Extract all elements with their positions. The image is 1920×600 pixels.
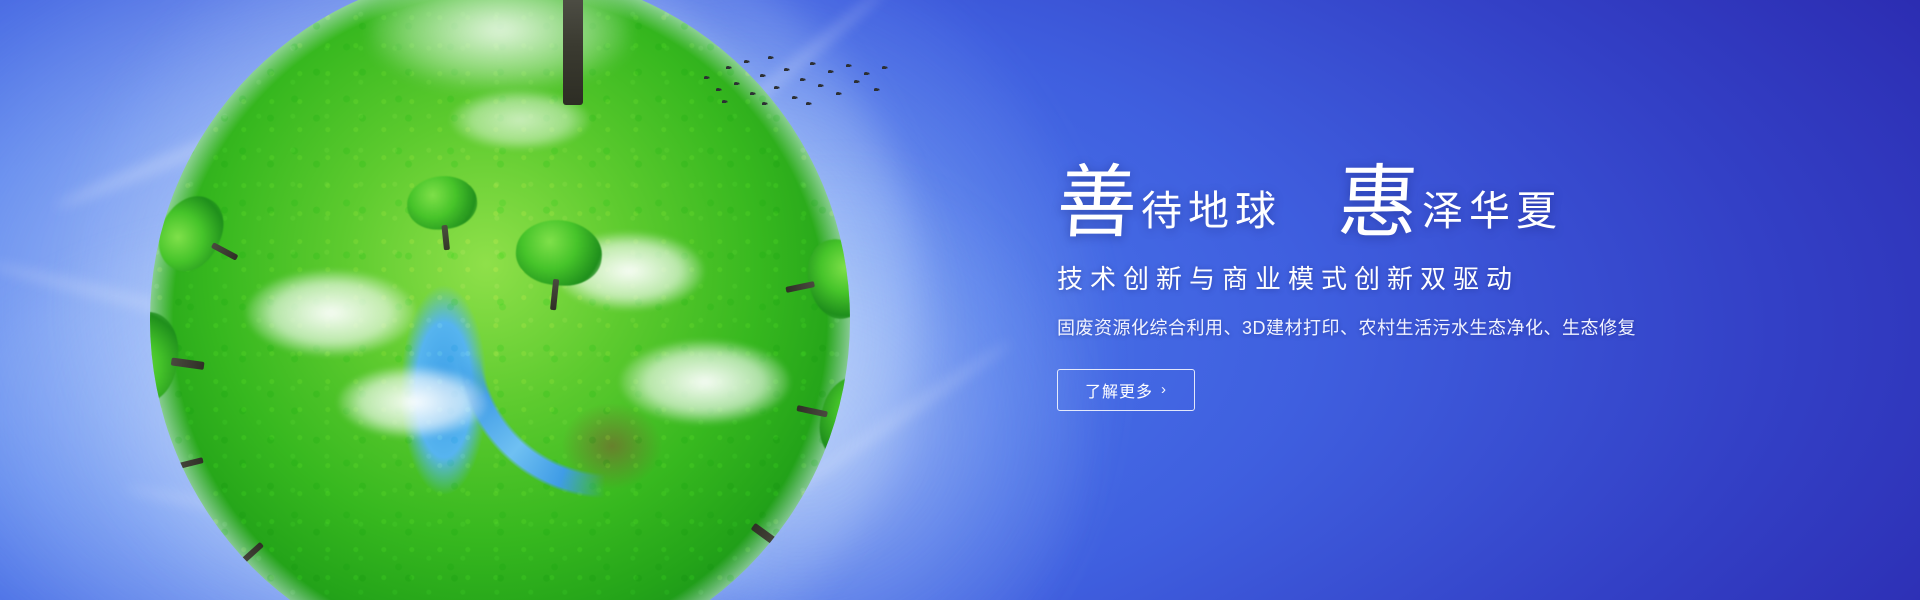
surface-cloud bbox=[246, 270, 416, 356]
headline-big-char-2: 惠 bbox=[1336, 164, 1420, 242]
bird-flock-icon bbox=[700, 48, 890, 110]
rim-tree bbox=[404, 173, 481, 254]
headline-group-1: 善 待地球 bbox=[1057, 164, 1282, 242]
rim-tree bbox=[510, 216, 605, 314]
headline-small-text-2: 泽华夏 bbox=[1422, 191, 1563, 242]
hero-tree bbox=[420, 0, 720, 80]
banner-copy: 善 待地球 惠 泽华夏 技术创新与商业模式创新双驱动 固废资源化综合利用、3D建… bbox=[1057, 146, 1817, 411]
headline-small-text-1: 待地球 bbox=[1141, 191, 1282, 242]
surface-cloud bbox=[620, 340, 790, 424]
chevron-right-icon: › bbox=[1161, 382, 1167, 397]
headline: 善 待地球 惠 泽华夏 bbox=[1057, 146, 1817, 242]
hero-banner: 善 待地球 惠 泽华夏 技术创新与商业模式创新双驱动 固废资源化综合利用、3D建… bbox=[0, 0, 1920, 600]
banner-subtitle: 技术创新与商业模式创新双驱动 bbox=[1057, 264, 1817, 295]
headline-group-2: 惠 泽华夏 bbox=[1338, 164, 1563, 242]
hero-tree-trunk bbox=[563, 0, 583, 105]
learn-more-label: 了解更多 bbox=[1085, 378, 1153, 402]
learn-more-button[interactable]: 了解更多 › bbox=[1057, 369, 1195, 411]
headline-big-char-1: 善 bbox=[1055, 164, 1139, 242]
surface-cloud bbox=[338, 366, 488, 438]
banner-description: 固废资源化综合利用、3D建材打印、农村生活污水生态净化、生态修复 bbox=[1057, 317, 1817, 340]
